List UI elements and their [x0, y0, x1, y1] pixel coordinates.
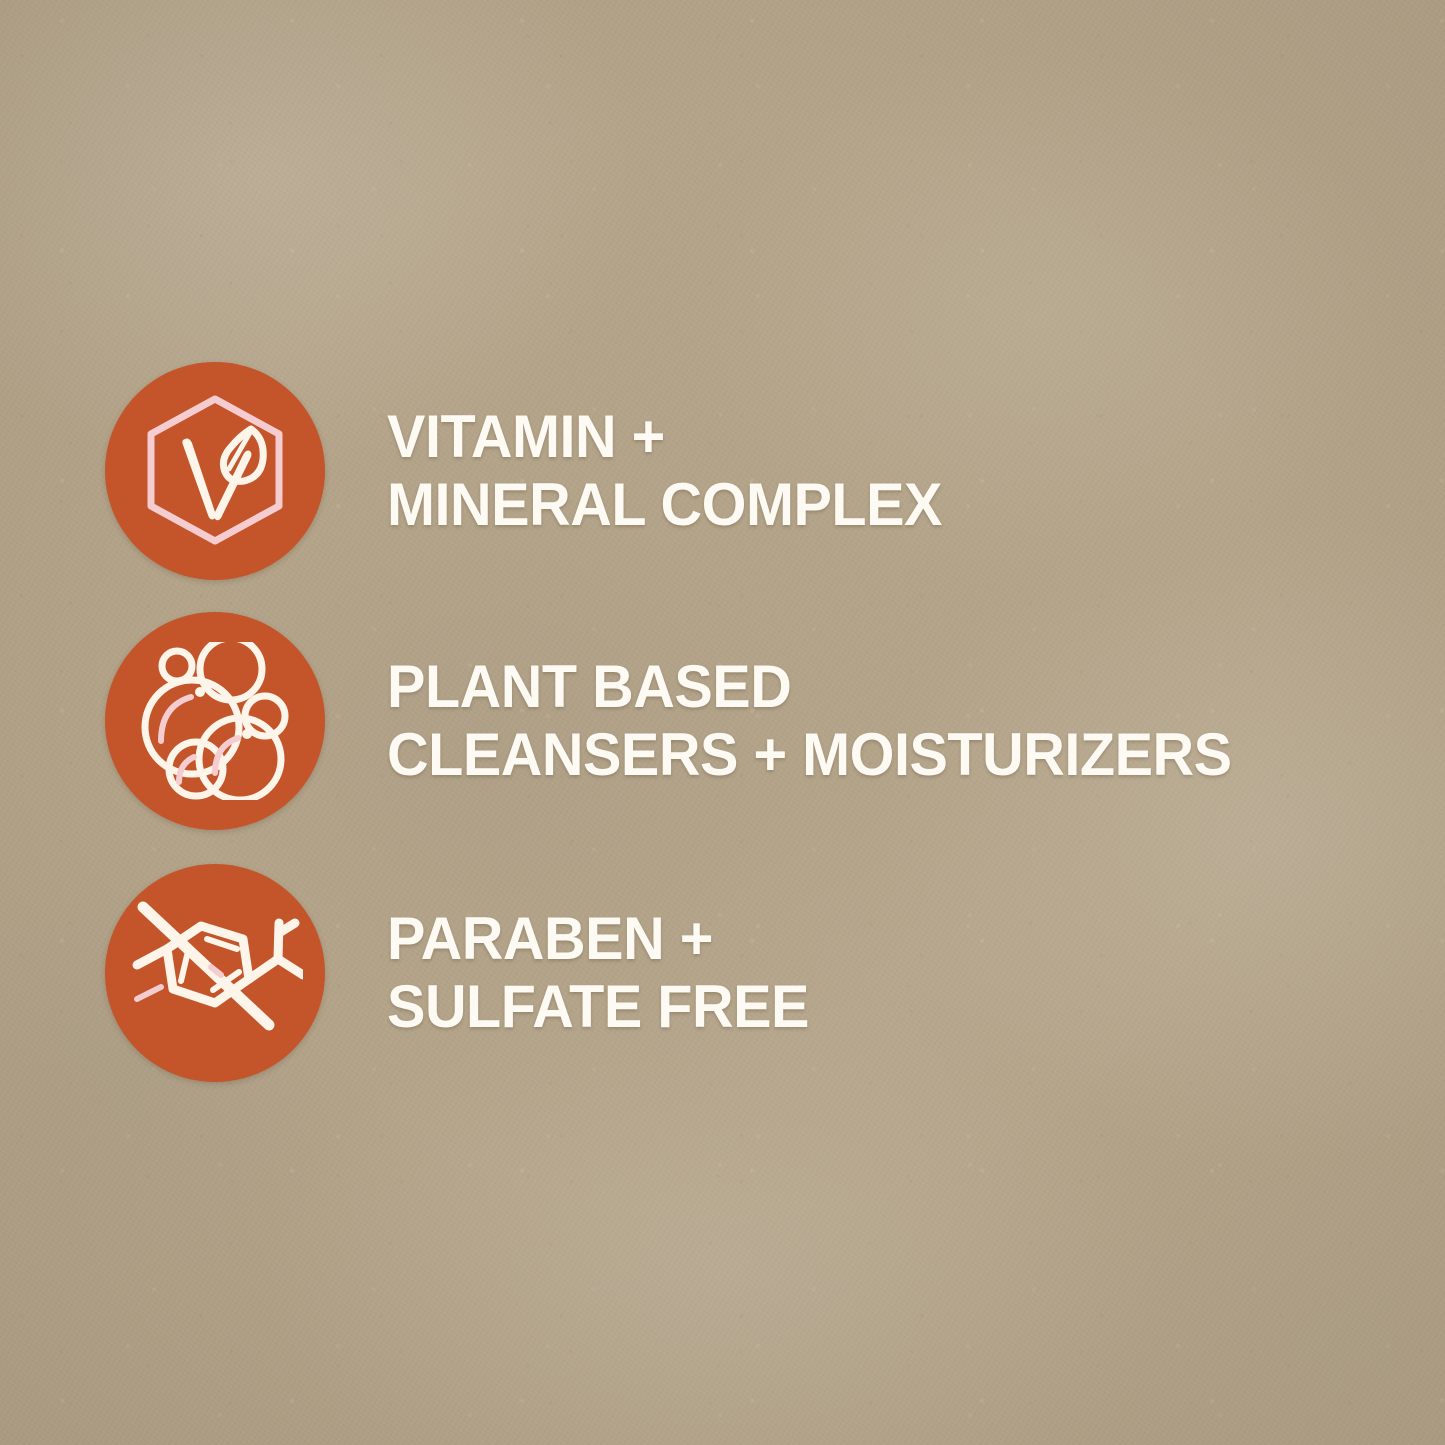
feature-row-vitamin-mineral-complex: VITAMIN + MINERAL COMPLEX [105, 362, 965, 580]
vegan-hexagon-leaf-icon [139, 393, 291, 549]
no-molecule-icon [127, 893, 303, 1053]
badge-vegan-hexagon-leaf [105, 362, 325, 580]
feature-row-plant-based-cleansers: PLANT BASED CLEANSERS + MOISTURIZERS [105, 612, 1267, 830]
feature-label-line: PARABEN + [387, 905, 809, 973]
feature-label-line: CLEANSERS + MOISTURIZERS [387, 721, 1232, 789]
feature-label-line: MINERAL COMPLEX [387, 471, 942, 539]
feature-label-line: VITAMIN + [387, 403, 942, 471]
feature-badge-list: VITAMIN + MINERAL COMPLEX [0, 0, 1445, 1445]
feature-row-paraben-sulfate-free: PARABEN + SULFATE FREE [105, 864, 827, 1082]
feature-label-line: PLANT BASED [387, 653, 1232, 721]
bubbles-icon [135, 642, 295, 800]
feature-label-paraben-sulfate-free: PARABEN + SULFATE FREE [387, 905, 809, 1041]
badge-bubbles [105, 612, 325, 830]
feature-label-vitamin-mineral-complex: VITAMIN + MINERAL COMPLEX [387, 403, 942, 539]
badge-no-molecule [105, 864, 325, 1082]
feature-label-plant-based-cleansers: PLANT BASED CLEANSERS + MOISTURIZERS [387, 653, 1232, 789]
feature-label-line: SULFATE FREE [387, 973, 809, 1041]
